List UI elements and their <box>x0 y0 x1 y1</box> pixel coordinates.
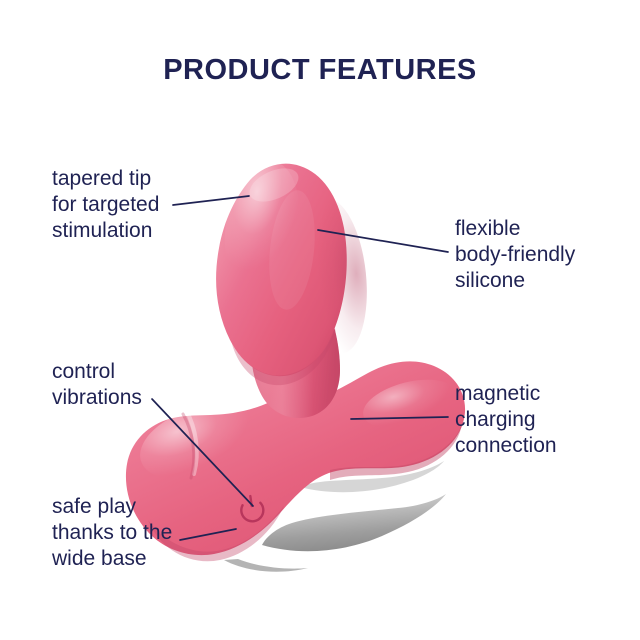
callout-label-control-vibrations: control vibrations <box>52 359 142 411</box>
product-features-infographic: PRODUCT FEATURES <box>0 0 640 640</box>
callout-label-safe-play-wide-base: safe play thanks to the wide base <box>52 494 172 572</box>
callout-label-flexible-silicone: flexible body-friendly silicone <box>455 216 575 294</box>
callout-label-magnetic-charging: magnetic charging connection <box>455 381 557 459</box>
product-bulb <box>215 155 374 385</box>
callout-label-tapered-tip: tapered tip for targeted stimulation <box>52 166 159 244</box>
